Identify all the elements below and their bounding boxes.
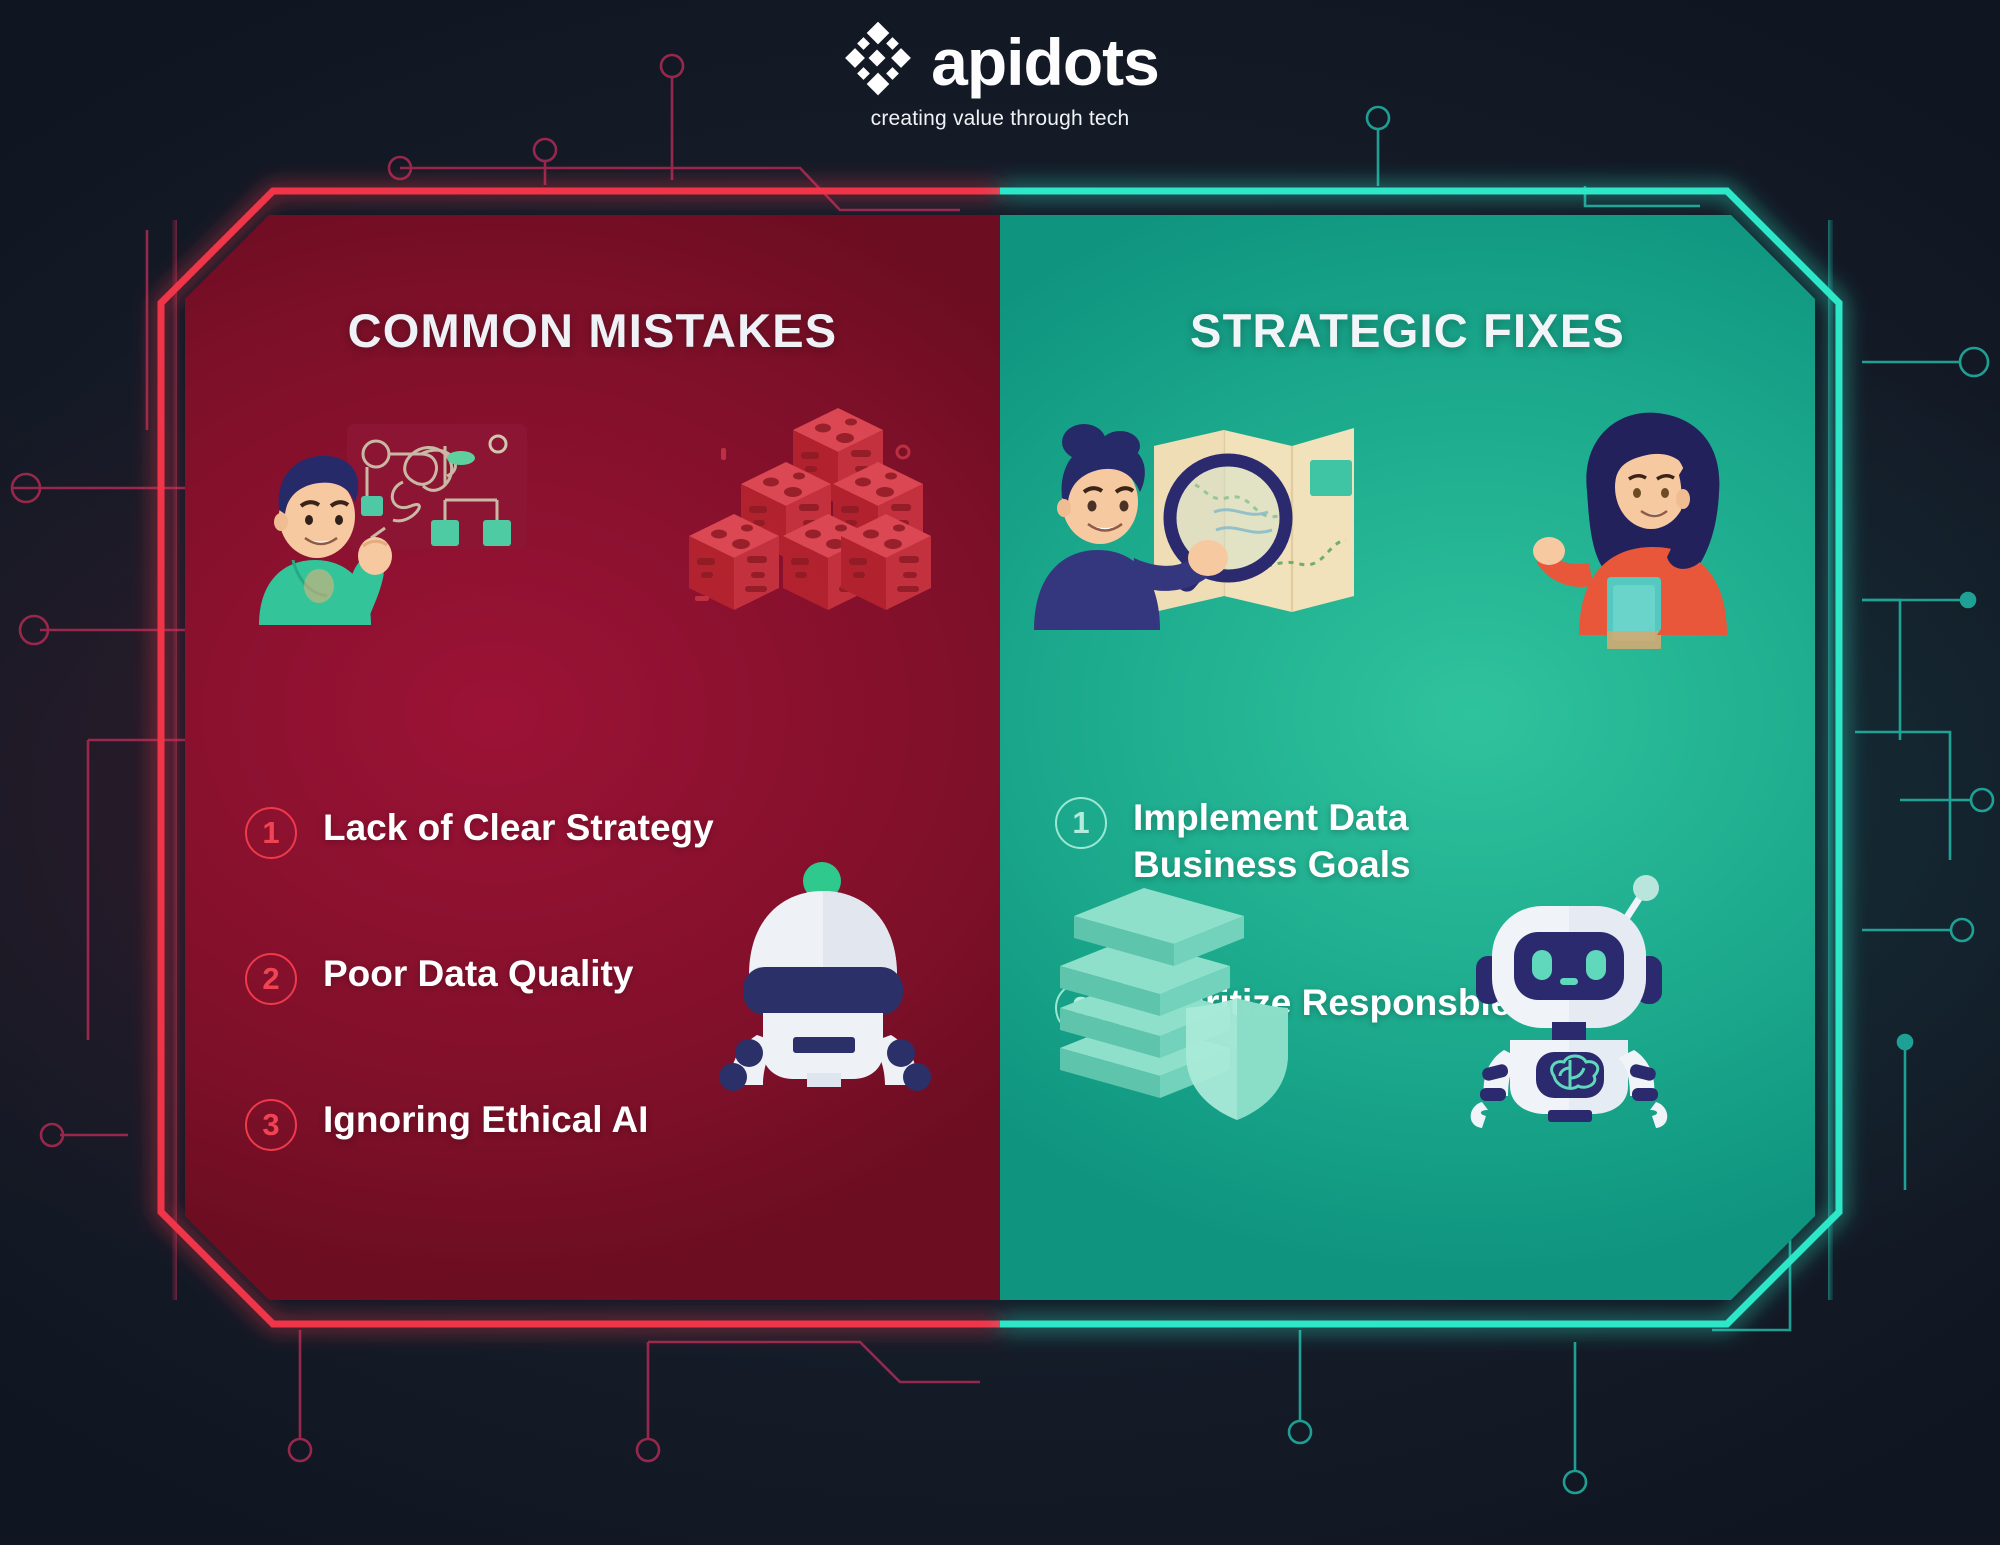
panel-left-heading: COMMON MISTAKES [185,303,1000,358]
list-number: 1 [245,807,297,859]
brand-tagline: creating value through tech [871,107,1130,131]
data-layers-with-shield-illustration [1042,880,1322,1115]
list-item[interactable]: 1 Implement Data Business Goals [1055,795,1815,888]
stacked-broken-data-cubes-illustration [685,400,935,610]
robot-with-brain-chest-illustration [1460,870,1680,1120]
comparison-panels: COMMON MISTAKES [155,185,1845,1330]
list-label: Implement Data Business Goals [1133,795,1411,888]
panel-strategic-fixes: STRATEGIC FIXES [1000,215,1815,1300]
woman-with-tablet-illustration [1545,395,1765,635]
list-item[interactable]: 3 Ignoring Ethical AI [245,1097,1000,1151]
panel-right-heading: STRATEGIC FIXES [1000,303,1815,358]
robot-with-visor-illustration [715,855,935,1085]
brand-name: apidots [931,29,1159,95]
infographic-canvas: apidots creating value through tech [0,0,2000,1545]
diamond-cluster-icon [841,22,915,101]
list-number: 2 [245,953,297,1005]
list-label: Poor Data Quality [323,951,633,998]
list-item[interactable]: 1 Lack of Clear Strategy [245,805,1000,859]
person-pointing-at-tangled-flowchart-illustration [235,410,535,625]
list-number: 1 [1055,797,1107,849]
brand-logo: apidots creating value through tech [0,22,2000,131]
list-label: Ignoring Ethical AI [323,1097,648,1144]
panel-common-mistakes: COMMON MISTAKES [185,215,1000,1300]
person-with-magnifying-glass-over-map-illustration [1028,400,1358,630]
list-number: 3 [245,1099,297,1151]
list-label: Lack of Clear Strategy [323,805,714,852]
